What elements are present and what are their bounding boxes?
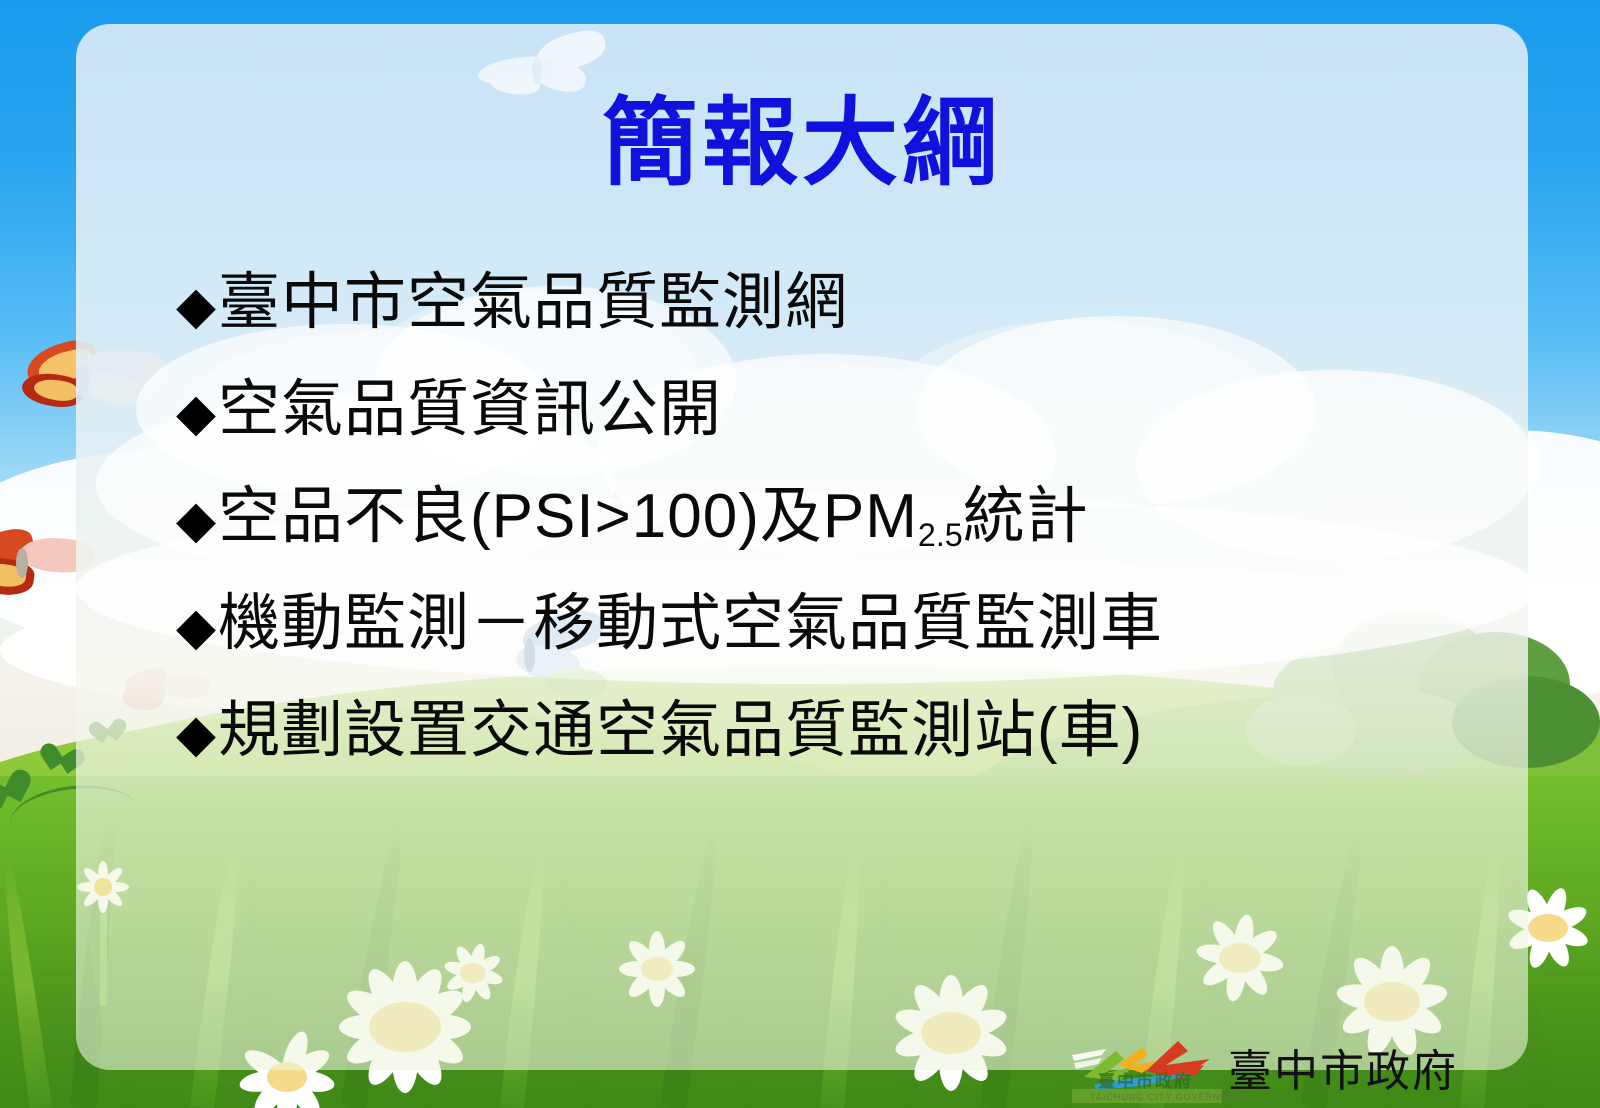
logo-emblem-chinese: 臺中市政府 bbox=[1098, 1067, 1193, 1092]
list-item-label-suffix: 統計 bbox=[963, 482, 1089, 551]
outline-list: ◆ 臺中市空氣品質監測網 ◆ 空氣品質資訊公開 ◆ 空品不良(PSI>100)及… bbox=[176, 272, 1488, 807]
diamond-bullet-icon: ◆ bbox=[176, 708, 216, 760]
pm-subscript: 2.5 bbox=[918, 517, 963, 553]
list-item: ◆ 空品不良(PSI>100)及PM2.5統計 bbox=[176, 486, 1488, 593]
page-title: 簡報大綱 bbox=[76, 96, 1528, 192]
diamond-bullet-icon: ◆ bbox=[176, 387, 216, 439]
logo-emblem-icon: 臺中市政府 TAICHUNG CITY GOVERNMENT bbox=[1072, 1031, 1222, 1103]
logo-emblem-english: TAICHUNG CITY GOVERNMENT bbox=[1090, 1092, 1250, 1102]
taichung-city-government-logo: 臺中市政府 TAICHUNG CITY GOVERNMENT 臺中市政府 bbox=[1072, 1026, 1532, 1108]
list-item: ◆ 規劃設置交通空氣品質監測站(車) bbox=[176, 700, 1488, 807]
list-item: ◆ 空氣品質資訊公開 bbox=[176, 379, 1488, 486]
list-item: ◆ 機動監測－移動式空氣品質監測車 bbox=[176, 593, 1488, 700]
list-item-label: 機動監測－移動式空氣品質監測車 bbox=[218, 593, 1163, 655]
diamond-bullet-icon: ◆ bbox=[176, 601, 216, 653]
list-item-label-prefix: 空品不良(PSI>100)及PM bbox=[218, 482, 918, 551]
list-item-label: 空氣品質資訊公開 bbox=[218, 379, 722, 441]
diamond-bullet-icon: ◆ bbox=[176, 280, 216, 332]
list-item-label: 規劃設置交通空氣品質監測站(車) bbox=[218, 700, 1143, 762]
presentation-slide: 簡報大綱 ◆ 臺中市空氣品質監測網 ◆ 空氣品質資訊公開 ◆ 空品不良(PSI>… bbox=[0, 0, 1600, 1108]
list-item-label: 臺中市空氣品質監測網 bbox=[218, 272, 848, 334]
logo-label: 臺中市政府 bbox=[1228, 1035, 1458, 1099]
diamond-bullet-icon: ◆ bbox=[176, 494, 216, 546]
list-item: ◆ 臺中市空氣品質監測網 bbox=[176, 272, 1488, 379]
content-panel: 簡報大綱 ◆ 臺中市空氣品質監測網 ◆ 空氣品質資訊公開 ◆ 空品不良(PSI>… bbox=[76, 24, 1528, 1070]
list-item-label: 空品不良(PSI>100)及PM2.5統計 bbox=[218, 486, 1089, 548]
